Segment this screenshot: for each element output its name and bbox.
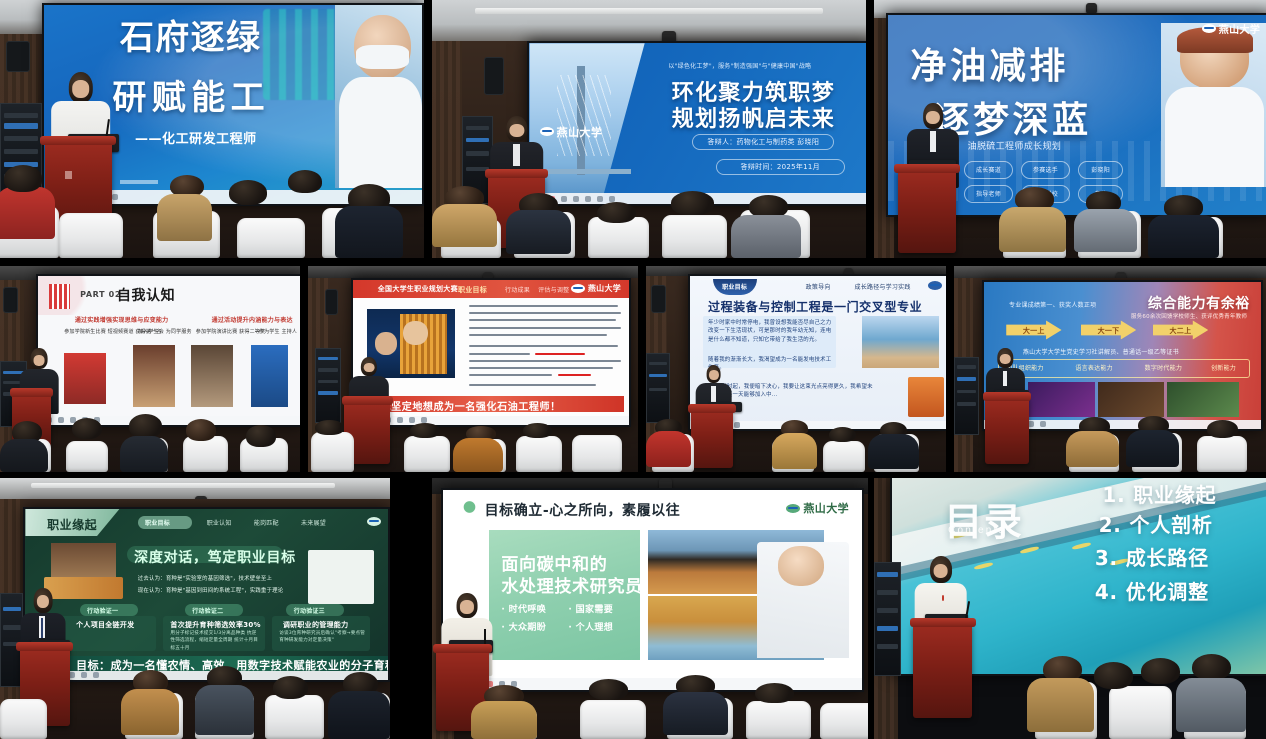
photo10-title-en: Contents [948, 525, 1006, 536]
photo-8[interactable]: 职业缘起 职业目标 职业认知 能岗匹配 未来展望 深度对话，笃定职业目标 过去认… [0, 478, 390, 739]
photo3-subtitle: 油脱硫工程师成长规划 [968, 139, 1062, 152]
photo8-row-now: 现在认为：育种是"基因到田间的系统工程"，实践重于理论 [138, 586, 284, 594]
photo5-nav-0: 职业目标 [458, 285, 487, 295]
photo-collage: 石府逐绿 研赋能工 ——化工研发工程师 [0, 0, 1266, 739]
photo10-item-1: 2. 个人剖析 [1099, 509, 1213, 538]
photo-9[interactable]: 目标确立-心之所向，素履以往 燕山大学 面向碳中和的 水处理技术研究员 · 时代… [432, 478, 868, 739]
photo9-title: 目标确立-心之所向，素履以往 [485, 500, 681, 520]
photo4-part-label: PART 02 [80, 290, 121, 299]
photo8-card-headline-1: 首次提升育种筛选效率30% [170, 620, 260, 630]
photo8-headline: 深度对话，笃定职业目标 [134, 547, 296, 567]
photo8-card-headline-2: 调研职业的管理能力 [283, 620, 349, 630]
photo7-headline: 综合能力有余裕 [1148, 293, 1250, 313]
photo2-presenter-field: 答辩人：药物化工与制药类 彭晓阳 [692, 134, 834, 150]
photo9-bullet-0: · 时代呼唤 [501, 602, 546, 615]
wall-speaker-icon [325, 289, 338, 316]
photo2-headline-2: 规划扬帆启未来 [672, 101, 835, 133]
wall-speaker-icon [651, 285, 666, 314]
photo1-headline-2: 研赋能工 [112, 81, 270, 115]
photo8-nav-1: 职业认知 [207, 518, 232, 527]
photo4-sub-left: 通过实践增强实现思维与应变能力 [75, 315, 169, 324]
photo6-tab-active: 职业目标 [722, 282, 747, 291]
photo4-sub-right: 通过活动提升内涵能力与表达 [212, 315, 293, 324]
photo7-arrow-label-1: 大一下 [1098, 326, 1120, 336]
photo-6[interactable]: 职业目标 政策导向 成长路径与学习实践 过程装备与控制工程是一门交叉型专业 年少… [646, 266, 946, 472]
photo4-caption-2: 参加学院演讲比赛 获得二等奖 [196, 328, 265, 335]
photo9-university: 燕山大学 [803, 500, 849, 516]
photo10-title-cn: 目录 [944, 491, 1023, 546]
photo8-nav-0: 职业目标 [145, 518, 170, 527]
photo10-item-2: 3. 成长路径 [1095, 542, 1209, 571]
photo7-arrow-label-2: 大二上 [1170, 326, 1192, 336]
wall-speaker-icon [6, 41, 29, 72]
photo-10[interactable]: 目录 Contents 1. 职业缘起 2. 个人剖析 3. 成长路径 4. 优… [874, 478, 1266, 739]
photo8-card-title-2: 行动验证三 [294, 606, 325, 615]
photo5-banner-title: 全国大学生职业规划大赛 [378, 284, 458, 294]
photo6-headline: 过程装备与控制工程是一门交叉型专业 [708, 298, 922, 315]
photo8-row-past: 过去认为：育种是"实验室的基因筛选"，技术壁垒至上 [138, 574, 272, 582]
university-logo: 燕山大学 [1202, 21, 1261, 36]
photo8-card-title-1: 行动验证二 [192, 606, 223, 615]
photo5-university: 燕山大学 [588, 283, 621, 294]
photo4-part-title: 自我认知 [117, 285, 175, 305]
photo8-card-title-0: 行动验证一 [87, 606, 118, 615]
photo-5[interactable]: 全国大学生职业规划大赛 职业目标 行动成果 评估与调整 燕山大学 [308, 266, 638, 472]
photo10-item-0: 1. 职业缘起 [1102, 479, 1216, 508]
wall-speaker-icon [3, 287, 18, 314]
photo5-nav-2: 评估与调整 [538, 285, 569, 294]
photo9-bullet-1: · 国家需要 [568, 602, 613, 615]
photo7-ability-2: 数字时代能力 [1145, 363, 1182, 372]
photo1-headline-1: 石府逐绿 [120, 21, 261, 55]
photo10-item-3: 4. 优化调整 [1095, 576, 1209, 605]
photo7-caption: 燕山大学大学生党史学习社讲解员、普通话一级乙等证书 [1023, 347, 1179, 356]
photo-1[interactable]: 石府逐绿 研赋能工 ——化工研发工程师 [0, 0, 424, 258]
photo7-ability-3: 创新能力 [1211, 363, 1236, 372]
photo2-eyebrow: 以"绿色化工梦"，服务"制造强国"与"健康中国"战略 [668, 61, 811, 70]
university-logo [928, 281, 942, 290]
photo-2[interactable]: 燕山大学 以"绿色化工梦"，服务"制造强国"与"健康中国"战略 环化聚力筑职梦 … [432, 0, 866, 258]
university-logo: 燕山大学 [571, 283, 621, 294]
photo9-bullet-2: · 大众期盼 [501, 620, 546, 633]
photo5-nav-1: 行动成果 [505, 285, 530, 294]
photo9-bullet-3: · 个人理想 [568, 620, 613, 633]
photo7-arrow-label-0: 大一上 [1023, 326, 1045, 336]
photo7-sub-right: 服务60余次回馈学校师生、获评优秀青年教师 [1131, 312, 1247, 320]
photo2-university: 燕山大学 [557, 124, 603, 140]
photo8-nav-2: 能岗匹配 [254, 518, 279, 527]
photo8-nav-3: 未来展望 [301, 518, 326, 527]
photo6-tab-1: 政策导向 [806, 282, 831, 291]
photo7-ability-1: 语言表达能力 [1075, 363, 1112, 372]
photo3-university: 燕山大学 [1219, 21, 1261, 36]
photo8-section-title: 职业缘起 [47, 516, 97, 533]
photo6-body-1: 年少时家中时常停电，我曾设想我能否尽自己之力改变一下生活现状，可是那时的我年幼无… [708, 319, 831, 344]
photo4-caption-3: 作为学生 主持人 [259, 328, 297, 335]
photo3-headline-1: 净油减排 [911, 37, 1069, 89]
photo-4[interactable]: PART 02 自我认知 通过实践增强实现思维与应变能力 通过活动提升内涵能力与… [0, 266, 300, 472]
photo-7[interactable]: 专业课成绩第一、获奖人数正项 综合能力有余裕 服务60余次回馈学校师生、获评优秀… [954, 266, 1266, 472]
photo-3[interactable]: 燕山大学 净油减排 逐梦深蓝 油脱硫工程师成长规划 成长赛道 参赛选手 彭晓阳 … [874, 0, 1266, 258]
photo7-sub-left: 专业课成绩第一、获奖人数正项 [1009, 300, 1096, 309]
university-logo: 燕山大学 [540, 124, 603, 140]
wall-speaker-icon [484, 57, 504, 96]
photo4-caption-1: 加入学生会 为同学服务 [138, 328, 192, 335]
photo9-panel-line2: 水处理技术研究员 [501, 572, 642, 597]
university-logo: 燕山大学 [786, 500, 849, 516]
university-logo [367, 517, 381, 526]
photo8-card-headline-0: 个人项目全链开发 [76, 620, 134, 630]
photo6-tab-2: 成长路径与学习实践 [854, 282, 910, 291]
